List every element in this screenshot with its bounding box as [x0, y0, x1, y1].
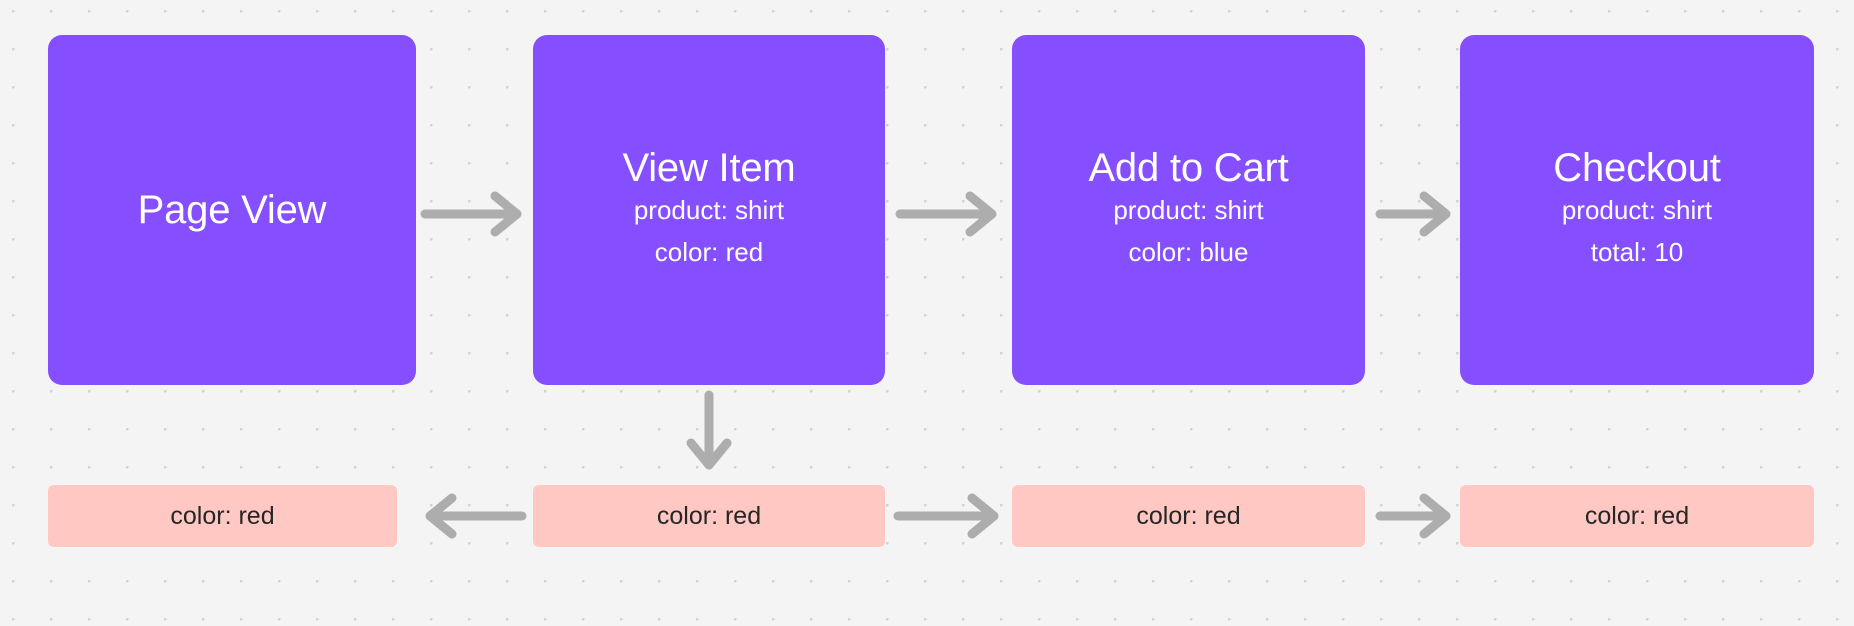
event-node-property: product: shirt	[1113, 189, 1263, 231]
property-node-label: color: red	[170, 502, 274, 531]
event-node-property: product: shirt	[634, 189, 784, 231]
property-node-1[interactable]: color: red	[48, 485, 397, 547]
diagram-canvas: Page View View Item product: shirt color…	[0, 0, 1854, 626]
event-node-title: Checkout	[1553, 147, 1720, 189]
event-node-property: color: blue	[1129, 231, 1249, 273]
event-node-title: Page View	[138, 189, 327, 231]
event-node-property: color: red	[655, 231, 763, 273]
event-node-view-item[interactable]: View Item product: shirt color: red	[533, 35, 885, 385]
arrow-down-icon-viewitem-property[interactable]	[685, 393, 733, 473]
property-node-4[interactable]: color: red	[1460, 485, 1814, 547]
arrow-left-icon-property2-property1[interactable]	[406, 492, 524, 540]
arrow-right-icon-property2-property3[interactable]	[896, 492, 1004, 540]
property-node-label: color: red	[1136, 502, 1240, 531]
property-node-2[interactable]: color: red	[533, 485, 885, 547]
property-node-label: color: red	[1585, 502, 1689, 531]
event-node-title: View Item	[622, 147, 795, 189]
event-node-checkout[interactable]: Checkout product: shirt total: 10	[1460, 35, 1814, 385]
arrow-right-icon-addtocart-checkout[interactable]	[1378, 190, 1454, 238]
arrow-right-icon-pageview-viewitem[interactable]	[423, 190, 525, 238]
event-node-title: Add to Cart	[1088, 147, 1288, 189]
arrow-right-icon-property3-property4[interactable]	[1378, 492, 1454, 540]
property-node-label: color: red	[657, 502, 761, 531]
event-node-page-view[interactable]: Page View	[48, 35, 416, 385]
arrow-right-icon-viewitem-addtocart[interactable]	[898, 190, 1000, 238]
event-node-property: total: 10	[1591, 231, 1684, 273]
event-node-add-to-cart[interactable]: Add to Cart product: shirt color: blue	[1012, 35, 1365, 385]
property-node-3[interactable]: color: red	[1012, 485, 1365, 547]
event-node-property: product: shirt	[1562, 189, 1712, 231]
